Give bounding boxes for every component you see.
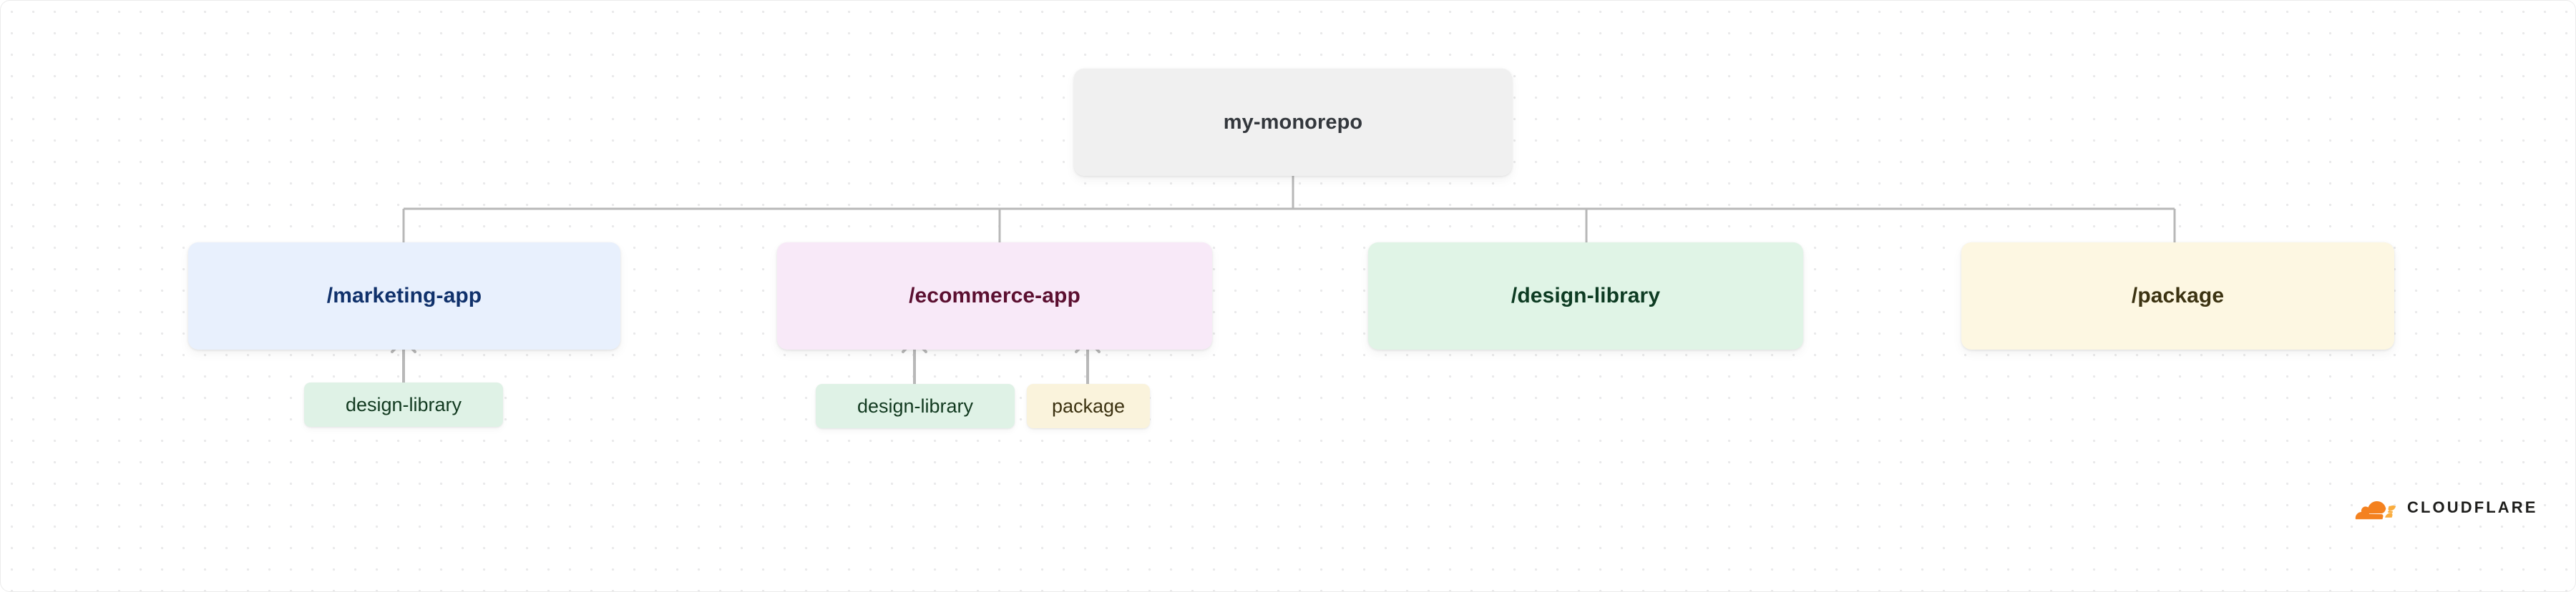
node-package-marketing-app[interactable]: /marketing-app xyxy=(188,242,620,350)
cloudflare-wordmark: CLOUDFLARE xyxy=(2407,500,2538,515)
node-package-ecommerce-app[interactable]: /ecommerce-app xyxy=(777,242,1212,350)
diagram-canvas: my-monorepo /marketing-app /ecommerce-ap… xyxy=(0,0,2576,592)
node-package-package-label: /package xyxy=(2132,284,2224,308)
dependency-pill-ecommerce-package[interactable]: package xyxy=(1027,384,1150,428)
cloudflare-cloud-icon xyxy=(2352,495,2399,520)
node-root-my-monorepo[interactable]: my-monorepo xyxy=(1074,69,1512,176)
node-package-design-library[interactable]: /design-library xyxy=(1368,242,1803,350)
cloudflare-logo: CLOUDFLARE xyxy=(2352,495,2538,520)
node-package-package[interactable]: /package xyxy=(1961,242,2394,350)
node-package-ecommerce-app-label: /ecommerce-app xyxy=(909,284,1080,308)
dependency-pill-label: package xyxy=(1052,395,1125,418)
dependency-pill-ecommerce-design-library[interactable]: design-library xyxy=(816,384,1015,428)
dependency-pill-label: design-library xyxy=(857,395,973,418)
node-root-label: my-monorepo xyxy=(1224,111,1362,134)
node-package-design-library-label: /design-library xyxy=(1511,284,1660,308)
dependency-pill-label: design-library xyxy=(346,394,462,416)
dependency-pill-marketing-design-library[interactable]: design-library xyxy=(304,383,503,427)
node-package-marketing-app-label: /marketing-app xyxy=(327,284,482,308)
